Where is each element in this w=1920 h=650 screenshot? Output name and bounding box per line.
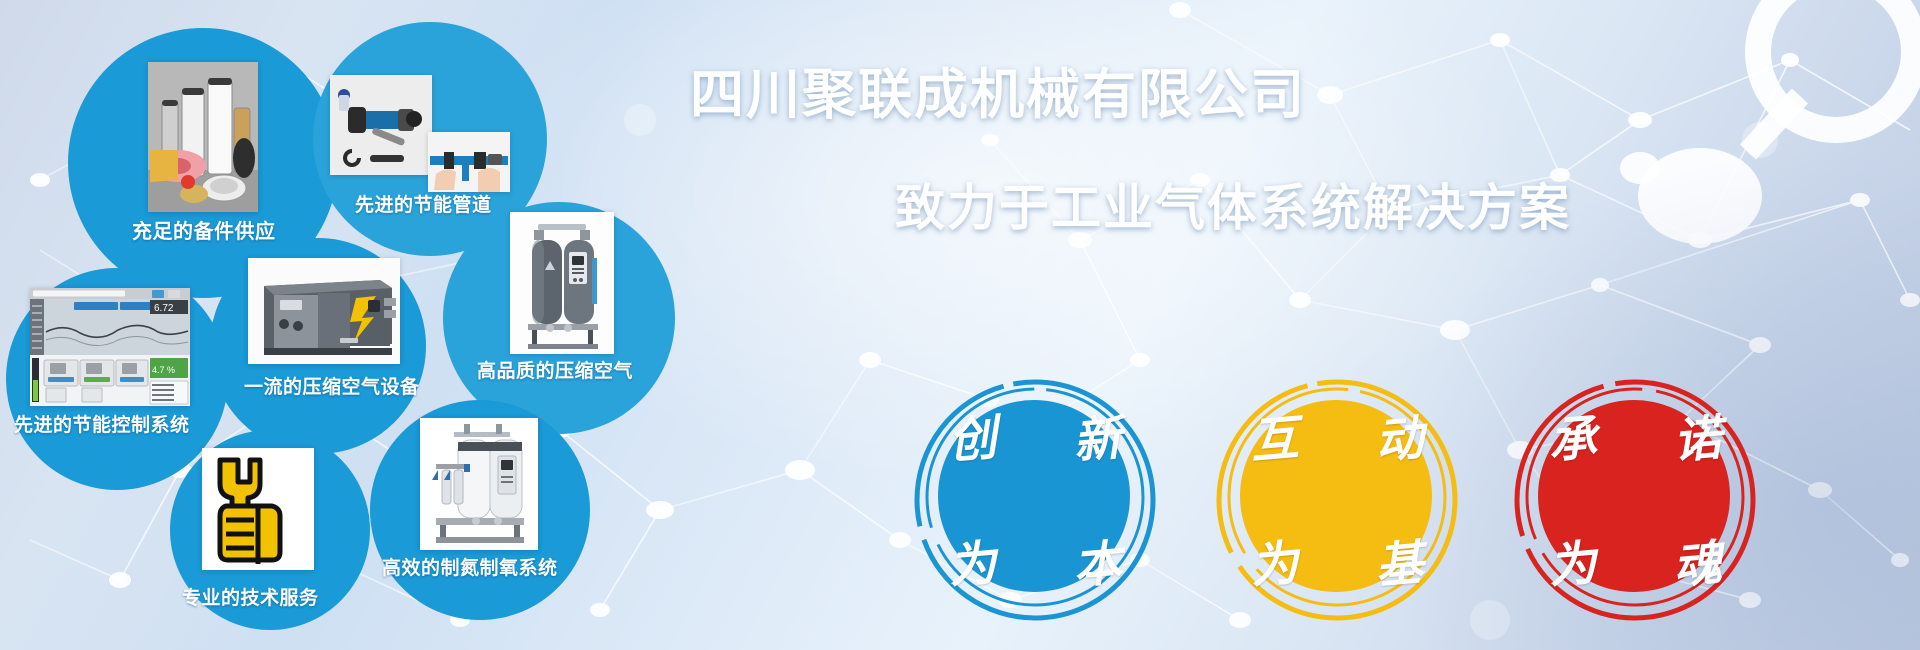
- seal-char: 为: [1546, 523, 1600, 597]
- seal-commitment-text: 承 诺 为 魂: [1510, 372, 1760, 622]
- product-label-air-quality: 高品质的压缩空气: [477, 356, 633, 383]
- product-label-spare-parts: 充足的备件供应: [132, 215, 276, 244]
- seal-innovation-text: 创 新 为 本: [910, 372, 1160, 622]
- product-label-compressor: 一流的压缩空气设备: [244, 372, 420, 399]
- product-image-pipeline-tools: [330, 75, 432, 175]
- page-subtitle: 致力于工业气体系统解决方案: [895, 168, 1571, 240]
- seal-innovation[interactable]: 创 新 为 本: [910, 372, 1160, 622]
- product-label-control-system: 先进的节能控制系统: [14, 410, 190, 437]
- seal-char: 为: [1248, 523, 1302, 597]
- product-image-pipeline-install: [428, 132, 510, 192]
- company-banner: 充足的备件供应: [0, 0, 1920, 650]
- page-title: 四川聚联成机械有限公司: [690, 50, 1306, 129]
- svg-text:6.72: 6.72: [154, 303, 174, 314]
- product-image-service-icon: [202, 448, 314, 570]
- seal-interaction-text: 互 动 为 基: [1212, 372, 1462, 622]
- seal-char: 魂: [1671, 523, 1725, 597]
- product-image-psa-generator: [420, 418, 538, 550]
- seal-char: 为: [946, 523, 1000, 597]
- seal-char: 动: [1373, 398, 1427, 472]
- product-label-nitrogen-oxygen: 高效的制氮制氧系统: [382, 553, 558, 580]
- product-image-spare-parts: [148, 62, 258, 212]
- product-label-energy-pipeline: 先进的节能管道: [355, 190, 492, 217]
- seal-char: 承: [1546, 398, 1600, 472]
- seal-commitment[interactable]: 承 诺 为 魂: [1510, 372, 1760, 622]
- seal-char: 基: [1373, 523, 1427, 597]
- seal-char: 本: [1071, 523, 1125, 597]
- seal-char: 创: [946, 398, 1000, 472]
- seal-char: 互: [1248, 398, 1302, 472]
- seal-interaction[interactable]: 互 动 为 基: [1212, 372, 1462, 622]
- network-ring-motif: [1620, 0, 1914, 244]
- seal-char: 诺: [1671, 398, 1725, 472]
- product-circle-cluster: 充足的备件供应: [0, 0, 700, 650]
- svg-text:4.7 %: 4.7 %: [152, 365, 175, 375]
- product-image-air-dryer: [510, 212, 614, 354]
- product-image-control-screen: 6.72 4.7 %: [30, 288, 190, 406]
- product-label-tech-service: 专业的技术服务: [182, 583, 319, 610]
- product-image-compressor: [248, 258, 400, 364]
- seal-char: 新: [1071, 398, 1125, 472]
